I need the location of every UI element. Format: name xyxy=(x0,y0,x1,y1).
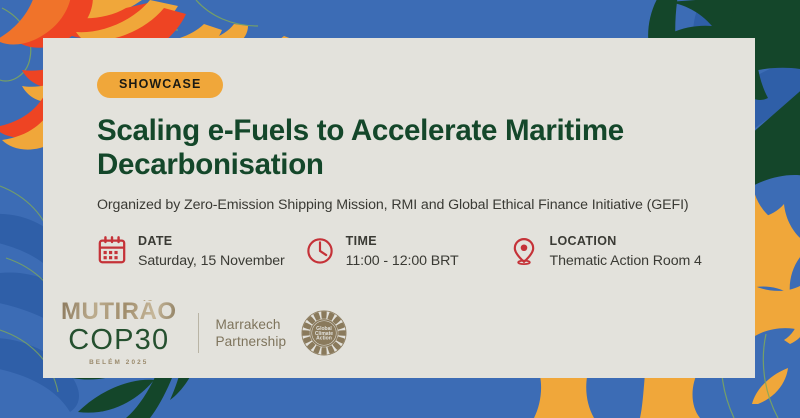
detail-date: DATE Saturday, 15 November xyxy=(97,233,305,271)
location-value: Thematic Action Room 4 xyxy=(550,252,702,271)
date-value: Saturday, 15 November xyxy=(138,252,285,271)
cop30-wordmark: COP30 xyxy=(68,325,169,355)
time-label: TIME xyxy=(346,234,459,250)
belem-2025-text: BELÉM 2025 xyxy=(89,359,148,366)
clock-icon xyxy=(305,234,335,266)
card-content: SHOWCASE Scaling e-Fuels to Accelerate M… xyxy=(97,72,735,271)
showcase-badge: SHOWCASE xyxy=(97,72,223,98)
time-text-block: TIME 11:00 - 12:00 BRT xyxy=(346,233,459,271)
location-text-block: LOCATION Thematic Action Room 4 xyxy=(550,233,702,271)
time-value: 11:00 - 12:00 BRT xyxy=(346,252,459,271)
cop30-logo: MUTIRÃO COP30 BELÉM 2025 xyxy=(61,300,176,366)
event-details-row: DATE Saturday, 15 November TIME 11:00 - … xyxy=(97,233,735,271)
logo-divider xyxy=(198,313,199,353)
detail-location: LOCATION Thematic Action Room 4 xyxy=(509,233,736,271)
marrakech-line-2: Partnership xyxy=(215,333,286,350)
gca-text-action: Action xyxy=(316,336,332,342)
event-card: SHOWCASE Scaling e-Fuels to Accelerate M… xyxy=(43,38,755,378)
location-pin-icon xyxy=(509,234,539,266)
event-organizer: Organized by Zero-Emission Shipping Miss… xyxy=(97,196,735,214)
date-label: DATE xyxy=(138,234,285,250)
event-title: Scaling e-Fuels to Accelerate Maritime D… xyxy=(97,114,697,183)
mutirao-wordmark: MUTIRÃO xyxy=(61,300,176,324)
marrakech-partnership-wordmark: Marrakech Partnership xyxy=(215,316,286,351)
detail-time: TIME 11:00 - 12:00 BRT xyxy=(305,233,509,271)
location-label: LOCATION xyxy=(550,234,702,250)
global-climate-action-emblem: Global Climate Action xyxy=(300,309,348,357)
marrakech-line-1: Marrakech xyxy=(215,316,286,333)
calendar-icon xyxy=(97,234,127,266)
date-text-block: DATE Saturday, 15 November xyxy=(138,233,285,271)
event-banner: SHOWCASE Scaling e-Fuels to Accelerate M… xyxy=(0,0,800,418)
logo-strip: MUTIRÃO COP30 BELÉM 2025 Marrakech Partn… xyxy=(61,300,348,366)
